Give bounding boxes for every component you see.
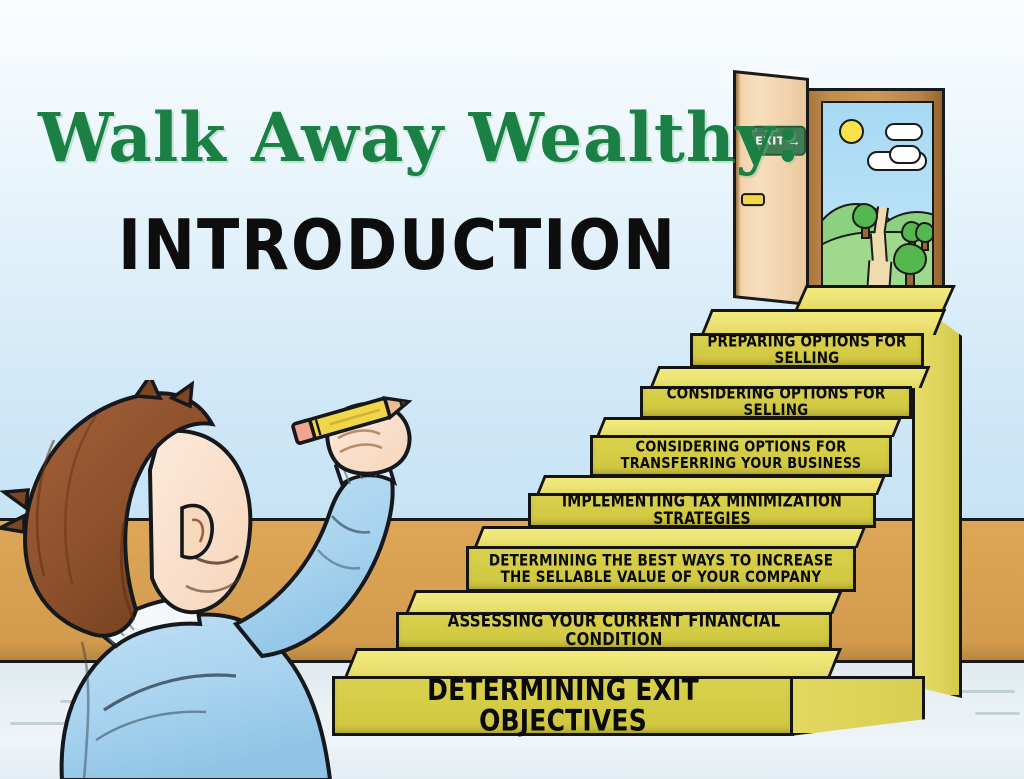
step-tread-5	[596, 417, 902, 437]
staircase-bottom-right-wedge	[790, 676, 925, 736]
slide-canvas: EXIT → PREPARING OPTIONS FOR SELLING CON…	[0, 0, 1024, 779]
businessman-figure	[0, 380, 420, 779]
hair-tuft	[0, 516, 24, 532]
step-5-riser: CONSIDERING OPTIONS FOR TRANSFERRING YOU…	[590, 435, 892, 477]
hair-tuft	[136, 380, 160, 398]
step-2-riser: ASSESSING YOUR CURRENT FINANCIAL CONDITI…	[396, 612, 832, 650]
step-tread-3	[474, 526, 867, 548]
step-2[interactable]: ASSESSING YOUR CURRENT FINANCIAL CONDITI…	[396, 612, 832, 650]
step-6[interactable]: CONSIDERING OPTIONS FOR SELLING	[640, 386, 912, 419]
page-subtitle: INTRODUCTION	[118, 204, 677, 286]
shirt-sleeve-arm	[236, 472, 393, 656]
step-7-riser: PREPARING OPTIONS FOR SELLING	[690, 333, 924, 368]
step-7-label: PREPARING OPTIONS FOR SELLING	[693, 334, 921, 367]
step-3-riser: DETERMINING THE BEST WAYS TO INCREASE TH…	[466, 546, 856, 592]
step-4-label: IMPLEMENTING TAX MINIMIZATION STRATEGIES	[531, 493, 873, 528]
ear	[182, 505, 212, 557]
hair-tuft	[4, 490, 28, 508]
step-3[interactable]: DETERMINING THE BEST WAYS TO INCREASE TH…	[466, 546, 856, 592]
step-2-label: ASSESSING YOUR CURRENT FINANCIAL CONDITI…	[399, 612, 829, 649]
step-5-label: CONSIDERING OPTIONS FOR TRANSFERRING YOU…	[593, 440, 889, 472]
step-3-label: DETERMINING THE BEST WAYS TO INCREASE TH…	[469, 552, 853, 585]
step-5[interactable]: CONSIDERING OPTIONS FOR TRANSFERRING YOU…	[590, 435, 892, 477]
step-4-riser: IMPLEMENTING TAX MINIMIZATION STRATEGIES	[528, 493, 876, 528]
step-tread-top-landing	[794, 285, 956, 311]
step-tread-7	[701, 309, 947, 335]
step-4[interactable]: IMPLEMENTING TAX MINIMIZATION STRATEGIES	[528, 493, 876, 528]
step-6-riser: CONSIDERING OPTIONS FOR SELLING	[640, 386, 912, 419]
step-7[interactable]: PREPARING OPTIONS FOR SELLING	[690, 333, 924, 368]
page-title: Walk Away Wealthy:	[38, 98, 801, 177]
step-6-label: CONSIDERING OPTIONS FOR SELLING	[643, 386, 909, 419]
